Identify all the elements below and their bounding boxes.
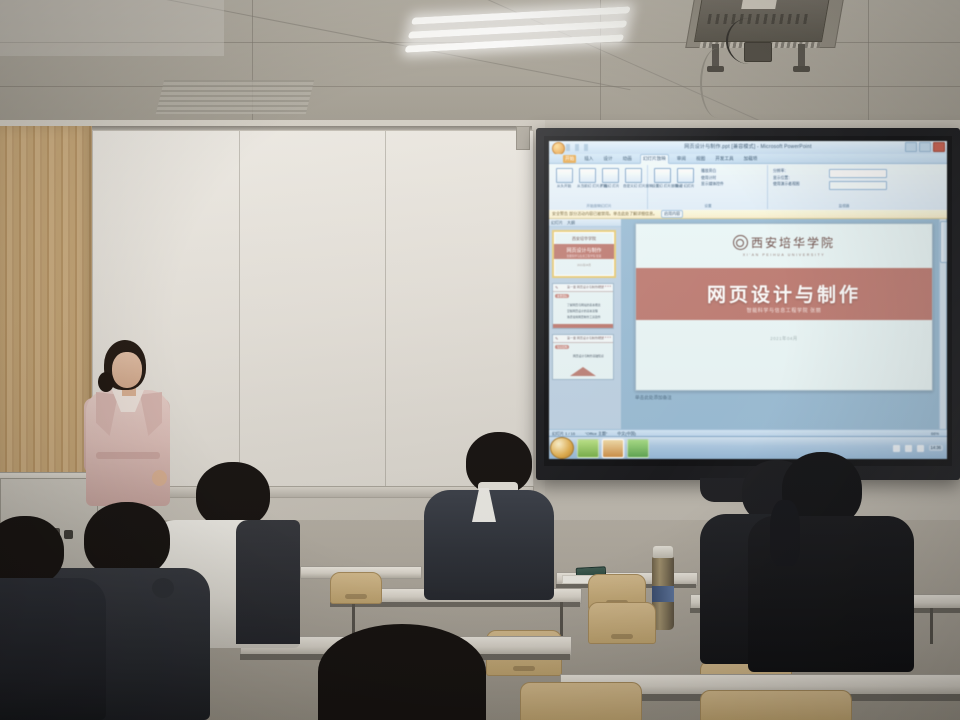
audience bbox=[0, 0, 960, 720]
classroom-photo: 网页设计与制作.ppt [兼容模式] - Microsoft PowerPoin… bbox=[0, 0, 960, 720]
